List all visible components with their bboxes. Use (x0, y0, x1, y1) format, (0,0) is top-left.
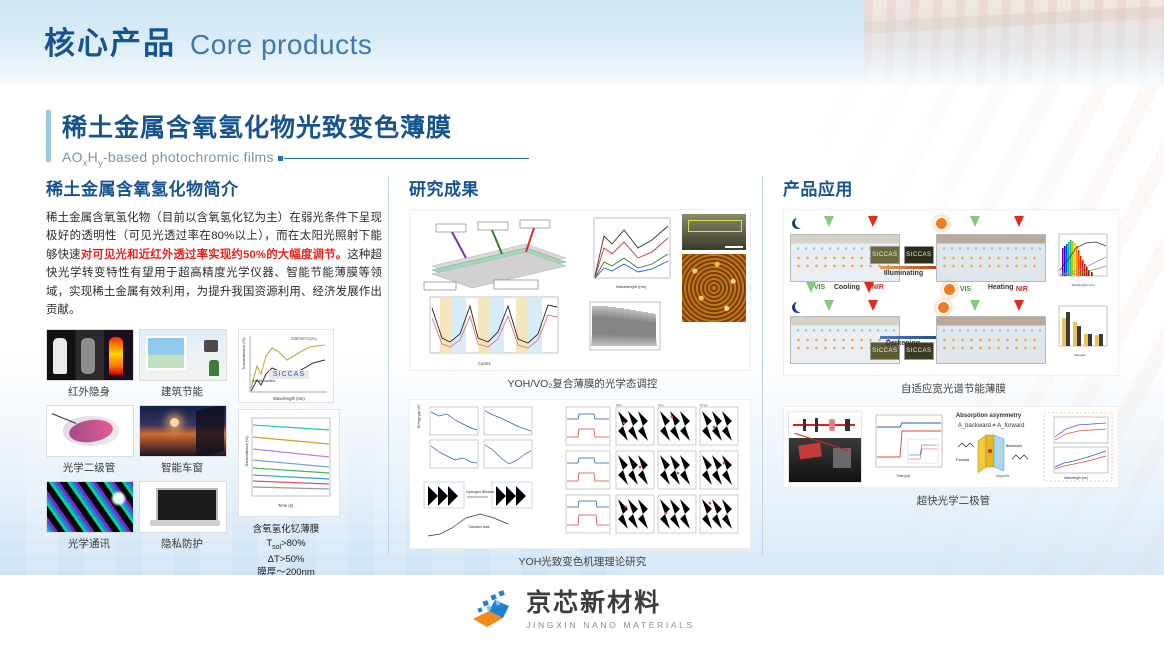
column-divider-1 (388, 177, 389, 555)
md-timestamp: 10 ps (700, 403, 708, 407)
moon-icon (792, 302, 803, 313)
asym-xlabel: Wavelength (nm) (1064, 476, 1088, 480)
lattice-dots (940, 254, 1042, 268)
spec-tsol: Tsol>80% (238, 537, 334, 553)
research-caption-bottom: YOH光致变色机理理论研究 (409, 554, 756, 569)
gallery-caption: 光学二级管 (46, 460, 132, 475)
afm-surface-image (682, 254, 746, 322)
section-title-cn: 稀土金属含氧氢化物光致变色薄膜 (62, 108, 529, 144)
section-title-block: 稀土金属含氧氢化物光致变色薄膜 AOxHy-based photochromic… (46, 108, 529, 168)
md-timestamp: 5 ps (658, 403, 664, 407)
column-research: 研究成果 (399, 175, 756, 560)
header-title-group: 核心产品 Core products (44, 18, 372, 63)
slide-header: 核心产品 Core products (0, 0, 1164, 85)
film-slab-bottom-right (936, 316, 1046, 364)
spec-title: 含氧氢化钇薄膜 (238, 523, 334, 537)
spectra-xlabel: Wavelength (nm) (273, 396, 305, 401)
gallery-caption: 建筑节能 (139, 384, 225, 399)
transition-state-label: Transition state (468, 525, 490, 529)
column-intro: 稀土金属含氧氢化物简介 稀土金属含氧氢化物（目前以含氧氢化钇为主）在弱光条件下呈… (46, 175, 382, 560)
gallery-item[interactable]: 光学通讯 (46, 481, 132, 551)
logo-squares-icon (469, 589, 515, 631)
vis-label: VIS (960, 286, 971, 293)
illuminating-arrow (880, 266, 936, 269)
sun-icon (936, 218, 947, 229)
logo-name-cn: 京芯新材料 (526, 591, 695, 616)
research-heading: 研究成果 (409, 175, 756, 200)
nir-label: NIR (872, 284, 884, 291)
thumb-smart-window (139, 405, 227, 457)
forward-label: Forward (956, 458, 969, 462)
intro-heading: 稀土金属含氧氢化物简介 (46, 175, 382, 200)
column-divider-2 (762, 177, 763, 555)
gallery-caption: 红外隐身 (46, 384, 132, 399)
nir-label: NIR (1016, 286, 1028, 293)
figure-time-transmittance: Time (s) Transmittance (%) (238, 409, 340, 517)
sapphire-label: Sapphire (996, 474, 1010, 478)
sun-icon (938, 302, 949, 313)
header-title-cn: 核心产品 (44, 18, 176, 63)
gallery-thumbs: 红外隐身 建筑节能 光学二级管 (46, 329, 228, 608)
application-figure-top[interactable]: VIS NIR Cooling VIS Heating NIR (783, 209, 1119, 376)
transmittance-bar-chart: Samples (1050, 302, 1112, 362)
vis-arrow-down (824, 216, 834, 227)
solar-chart-xlabel: Wavelength (nm) (1072, 283, 1095, 287)
stack-schematic-svg: Backward Forward Sapphire (952, 433, 1040, 479)
gallery-row: 光学通讯 隐私防护 (46, 481, 228, 551)
thumb-privacy-protection (139, 481, 227, 533)
thumb-optical-diode (46, 405, 134, 457)
intro-text-highlight: 对可见光和近红外透过率实现约50%的大幅度调节。 (81, 249, 348, 261)
application-caption-bottom: 超快光学二极管 (783, 493, 1124, 508)
content-columns: 稀土金属含氧氢化物简介 稀土金属含氧氢化物（目前以含氧氢化钇为主）在弱光条件下呈… (46, 175, 1124, 560)
hydrogen-diffusion-schematic: Hydrogen diffusion Transition state (414, 478, 546, 544)
vis-label: VIS (814, 284, 825, 291)
sample-tag-light: SICCAS (870, 246, 900, 264)
gallery-item[interactable]: 光学二级管 (46, 405, 132, 475)
bar-chart-xlabel: Samples (1074, 353, 1086, 357)
backward-label: Backward (1006, 444, 1022, 448)
research-spectra-xlabel: Wavelength (nm) (616, 284, 647, 289)
spectra-note: As-deposited (252, 378, 275, 383)
gallery-item[interactable]: 红外隐身 (46, 329, 132, 399)
gallery-row: 光学二级管 智能车窗 (46, 405, 228, 475)
energy-gap-plots: Energy gap (eV) (414, 404, 546, 474)
hydrogen-dots (794, 326, 896, 335)
absorption-asymmetry-schematic: Absorption asymmetry A_backward ≠ A_forw… (952, 411, 1040, 481)
time-xlabel: Time (s) (278, 503, 294, 508)
gallery-item[interactable]: 建筑节能 (139, 329, 225, 399)
nir-arrow-down (868, 300, 878, 311)
section-title-en: AOxHy-based photochromic films (62, 149, 274, 168)
section-subtitle-row: AOxHy-based photochromic films (62, 149, 529, 168)
nir-arrow-down (868, 216, 878, 227)
vis-arrow-down (970, 216, 980, 227)
vis-arrow-down (970, 300, 980, 311)
hydrogen-dots (940, 244, 1042, 253)
hydrogen-dots (940, 326, 1042, 335)
film-structure-schematic (414, 214, 574, 292)
sem-cross-section-image (682, 214, 746, 250)
slide-footer: 京芯新材料 JINGXIN NANO MATERIALS (0, 575, 1164, 663)
application-heading: 产品应用 (783, 175, 1124, 200)
nir-arrow-down (1014, 216, 1024, 227)
heating-label: Heating (988, 284, 1014, 291)
section-rule (284, 158, 529, 159)
header-title-en: Core products (190, 29, 372, 61)
asymmetry-formula: A_backward ≠ A_forward (958, 423, 1025, 429)
asymmetry-title: Absorption asymmetry (956, 413, 1021, 419)
sun-icon (944, 284, 955, 295)
figure-transmittance-spectra: 200nmYOₓHᵧ As-deposited Wavelength (nm) … (238, 329, 334, 403)
energy-gap-ylabel: Energy gap (eV) (417, 404, 421, 428)
time-ylabel: Transmittance (%) (245, 435, 249, 467)
cycling-xlabel: Cycles (478, 361, 491, 366)
section-accent-bar (46, 110, 51, 162)
logo-name-en: JINGXIN NANO MATERIALS (526, 620, 695, 630)
lattice-dots (940, 336, 1042, 350)
time-plot-svg: Time (s) Transmittance (%) (242, 413, 334, 511)
pump-probe-time-trace: Time (ps) (866, 411, 946, 483)
cycling-modulation-plot: Cycles (416, 294, 566, 368)
application-caption-top: 自适应宽光谱节能薄膜 (783, 381, 1124, 396)
thumb-infrared-stealth (46, 329, 134, 381)
gallery-row: 红外隐身 建筑节能 (46, 329, 228, 399)
diffusion-label: Hydrogen diffusion (466, 490, 494, 494)
thumb-building-energy (139, 329, 227, 381)
gallery-item[interactable]: 智能车窗 (139, 405, 225, 475)
application-figure-bottom[interactable]: Time (ps) Absorption asymmetry A_backwar… (783, 406, 1119, 488)
asymmetry-spectra-chart: Wavelength (nm) (1042, 411, 1114, 483)
time-trace-xlabel: Time (ps) (896, 474, 910, 478)
optical-setup-photo (788, 411, 862, 483)
solar-spectrum-chart: Wavelength (nm) (1050, 230, 1112, 292)
nir-arrow-down (1014, 300, 1024, 311)
spec-delta-t: ΔT>50% (238, 553, 334, 567)
gallery-caption: 光学通讯 (46, 536, 132, 551)
cooling-label: Cooling (834, 284, 860, 291)
intro-figure-stack: 200nmYOₓHᵧ As-deposited Wavelength (nm) … (238, 329, 334, 608)
darkening-label: Darkening (886, 340, 920, 347)
header-building-image (864, 0, 1164, 85)
durability-oscillation-plot (578, 298, 664, 364)
company-logo: 京芯新材料 JINGXIN NANO MATERIALS (0, 589, 1164, 631)
slide-root: 核心产品 Core products 稀土金属含氧氢化物光致变色薄膜 AOxHy… (0, 0, 1164, 663)
spectra-ylabel: Transmittance (%) (241, 337, 246, 370)
vis-arrow-down (824, 300, 834, 311)
research-caption-top: YOH/VO₂复合薄膜的光学态调控 (409, 376, 756, 391)
spectra-legend: 200nmYOₓHᵧ (291, 336, 317, 341)
intro-paragraph: 稀土金属含氧氢化物（目前以含氧氢化钇为主）在弱光条件下呈现极好的透明性（可见光透… (46, 209, 382, 320)
darkening-arrow (880, 336, 936, 339)
logo-mark-icon (469, 589, 515, 631)
column-application: 产品应用 VIS NIR Cooling (773, 175, 1124, 560)
illuminating-label: Illuminating (884, 270, 923, 277)
film-slab-top-right (936, 234, 1046, 282)
application-gallery: 红外隐身 建筑节能 光学二级管 (46, 329, 382, 608)
logo-text-group: 京芯新材料 JINGXIN NANO MATERIALS (526, 591, 695, 630)
spectra-plot-svg: 200nmYOₓHᵧ As-deposited Wavelength (nm) … (239, 330, 333, 402)
sample-tag-dark: SICCAS (904, 246, 934, 264)
research-figure-top[interactable]: Wavelength (nm) (409, 209, 751, 371)
gallery-item[interactable]: 隐私防护 (139, 481, 225, 551)
research-spectra-plot: Wavelength (nm) (582, 214, 674, 292)
md-simulation-panels: 0 ps 5 ps 10 ps (554, 403, 746, 543)
thumb-optical-communication (46, 481, 134, 533)
gallery-caption: 智能车窗 (139, 460, 225, 475)
moon-icon (792, 218, 803, 229)
gallery-caption: 隐私防护 (139, 536, 225, 551)
md-timestamp: 0 ps (616, 403, 622, 407)
research-figure-bottom[interactable]: Energy gap (eV) Hydrogen diffusion Trans… (409, 399, 751, 549)
